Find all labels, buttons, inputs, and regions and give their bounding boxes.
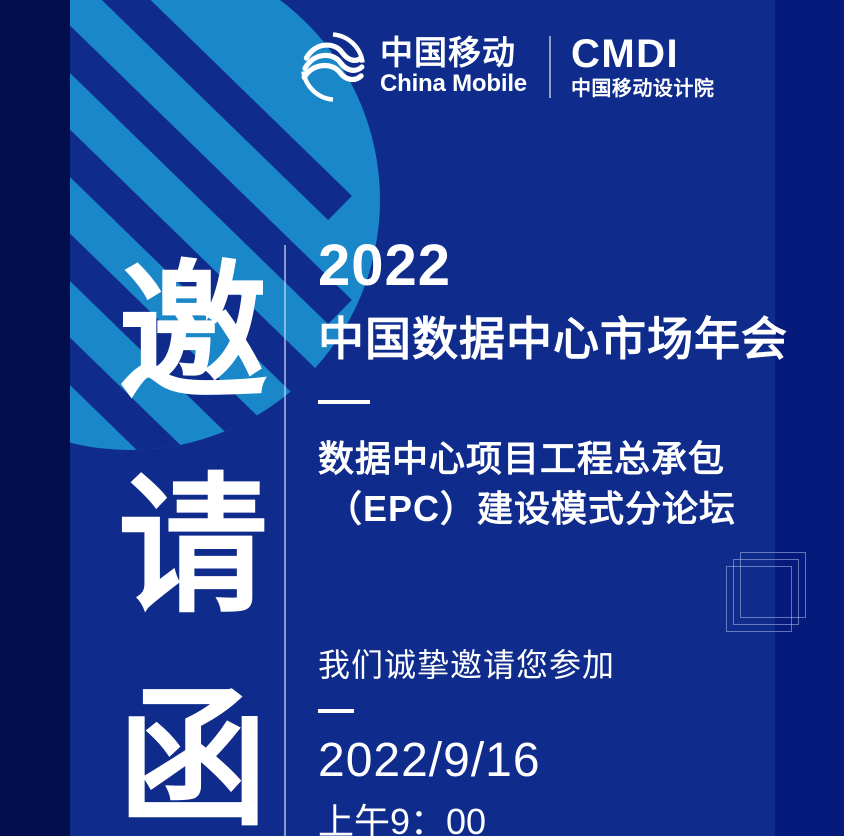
vertical-headline: 邀 请 函 [108, 228, 278, 836]
logo-lockup: 中国移动 China Mobile CMDI 中国移动设计院 [296, 28, 714, 106]
logo-brand-full: 中国移动设计院 [571, 77, 715, 101]
headline-char-2: 请 [118, 441, 268, 654]
china-mobile-logo-icon [296, 30, 370, 104]
event-subtitle-line-2: （EPC）建设模式分论坛 [318, 484, 818, 534]
event-date: 2022/9/16 [318, 735, 818, 788]
date-dash-divider [318, 709, 354, 713]
content-column: 2022 中国数据中心市场年会 数据中心项目工程总承包 （EPC）建设模式分论坛… [318, 236, 818, 836]
title-dash-divider [318, 400, 370, 404]
logo-chinese-name: 中国移动 [380, 36, 527, 71]
left-navy-band-overlay [0, 0, 70, 836]
vertical-separator-icon [549, 36, 551, 98]
event-year: 2022 [318, 236, 818, 297]
event-time: 上午9：00 [318, 801, 818, 836]
logo-chinese-block: 中国移动 China Mobile [380, 36, 527, 98]
logo-brand-block: CMDI 中国移动设计院 [571, 34, 715, 101]
invitation-message: 我们诚挚邀请您参加 [318, 645, 818, 685]
event-subtitle-line-1: 数据中心项目工程总承包 [318, 434, 818, 484]
headline-char-3: 函 [118, 654, 268, 836]
vertical-divider [284, 245, 286, 836]
logo-english-name: China Mobile [380, 71, 527, 98]
headline-char-1: 邀 [118, 228, 268, 441]
logo-brand-abbrev: CMDI [571, 34, 715, 74]
event-title: 中国数据中心市场年会 [318, 313, 818, 366]
invitation-poster: 中国移动 China Mobile CMDI 中国移动设计院 邀 请 函 202… [0, 0, 844, 836]
event-subtitle: 数据中心项目工程总承包 （EPC）建设模式分论坛 [318, 434, 818, 535]
